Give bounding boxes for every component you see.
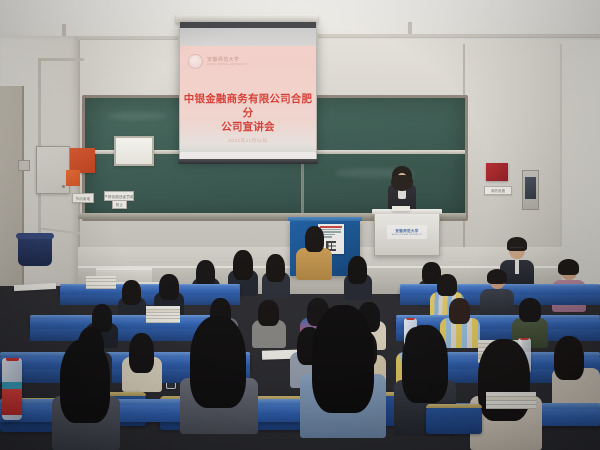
- water-bottle-front-left: [2, 358, 22, 420]
- wall-notice-frame: [114, 136, 154, 166]
- projection-screen: 安徽师范大学 ANHUI NORMAL UNIVERSITY 中银金融商务有限公…: [179, 22, 317, 160]
- chalk-smudge-1: [107, 112, 167, 120]
- student-row1-right: [344, 258, 372, 300]
- papers-a: [14, 283, 56, 291]
- ceiling-bracket-2: [408, 22, 412, 34]
- right-wall: [560, 40, 600, 285]
- university-emblem-icon: [188, 54, 203, 69]
- slide-date: 2021年11月11日: [180, 138, 316, 144]
- wall-mounted-device: [522, 170, 539, 210]
- ceiling-conduit-right: [318, 34, 600, 37]
- wall-switch-box: [18, 160, 30, 171]
- university-name: 安徽师范大学: [207, 57, 239, 63]
- desk-row-b-right-edge: [396, 315, 600, 319]
- book-stack-front-right: [486, 392, 536, 409]
- book-stack-a: [86, 276, 116, 289]
- slide-title: 中银金融商务有限公司合肥分 公司宣讲会: [180, 92, 316, 134]
- desk-row-b-left-edge: [30, 315, 230, 319]
- wall-sign-3: 消防设施: [484, 186, 512, 195]
- book-stack-b: [146, 306, 180, 323]
- glasses-icon: [510, 247, 524, 251]
- student-rowC-2: [122, 336, 162, 392]
- lecture-hall-photo: 安徽师范大学 ANHUI NORMAL UNIVERSITY 中银金融商务有限公…: [0, 0, 600, 450]
- student-rowC-foreground-right: [552, 340, 600, 410]
- student-foreground-left: [180, 322, 258, 434]
- slide-title-line-2: 公司宣讲会: [180, 120, 316, 134]
- podium-nameplate: 安徽师范大学 ANHUI NORMAL UNIVERSITY: [387, 225, 427, 239]
- wall-sign-2: 禁止: [112, 200, 127, 209]
- blue-trash-bin: [18, 236, 52, 266]
- presentation-slide: 安徽师范大学 ANHUI NORMAL UNIVERSITY 中银金融商务有限公…: [180, 46, 316, 152]
- wall-sign-0: 节约用电: [72, 193, 94, 203]
- student-foreground-center: [300, 312, 386, 438]
- wall-conduit-horizontal: [38, 58, 84, 61]
- ceiling-bracket-1: [62, 24, 66, 36]
- student-foreground-far-left: [52, 344, 120, 450]
- student-row1-center: [296, 228, 332, 280]
- chair-fg-5: [426, 404, 482, 434]
- screen-gray-band: [180, 28, 316, 46]
- presenter-hair-lower: [391, 175, 413, 191]
- podium: 安徽师范大学 ANHUI NORMAL UNIVERSITY: [374, 212, 440, 256]
- red-fire-notice: [486, 163, 508, 181]
- student-rowA-right-2: [480, 272, 514, 316]
- electrical-panel: [36, 146, 70, 194]
- student-row1-left2: [262, 256, 290, 298]
- podium-notes: [392, 206, 410, 211]
- cabinet-top: [288, 217, 362, 221]
- university-name-en: ANHUI NORMAL UNIVERSITY: [207, 63, 248, 66]
- screen-bottom-bar: [178, 159, 318, 164]
- slide-title-line-1: 中银金融商务有限公司合肥分: [180, 92, 316, 120]
- podium-plate-en: ANHUI NORMAL UNIVERSITY: [392, 234, 422, 236]
- university-logo: 安徽师范大学 ANHUI NORMAL UNIVERSITY: [188, 54, 248, 69]
- orange-poster-small: [66, 170, 80, 186]
